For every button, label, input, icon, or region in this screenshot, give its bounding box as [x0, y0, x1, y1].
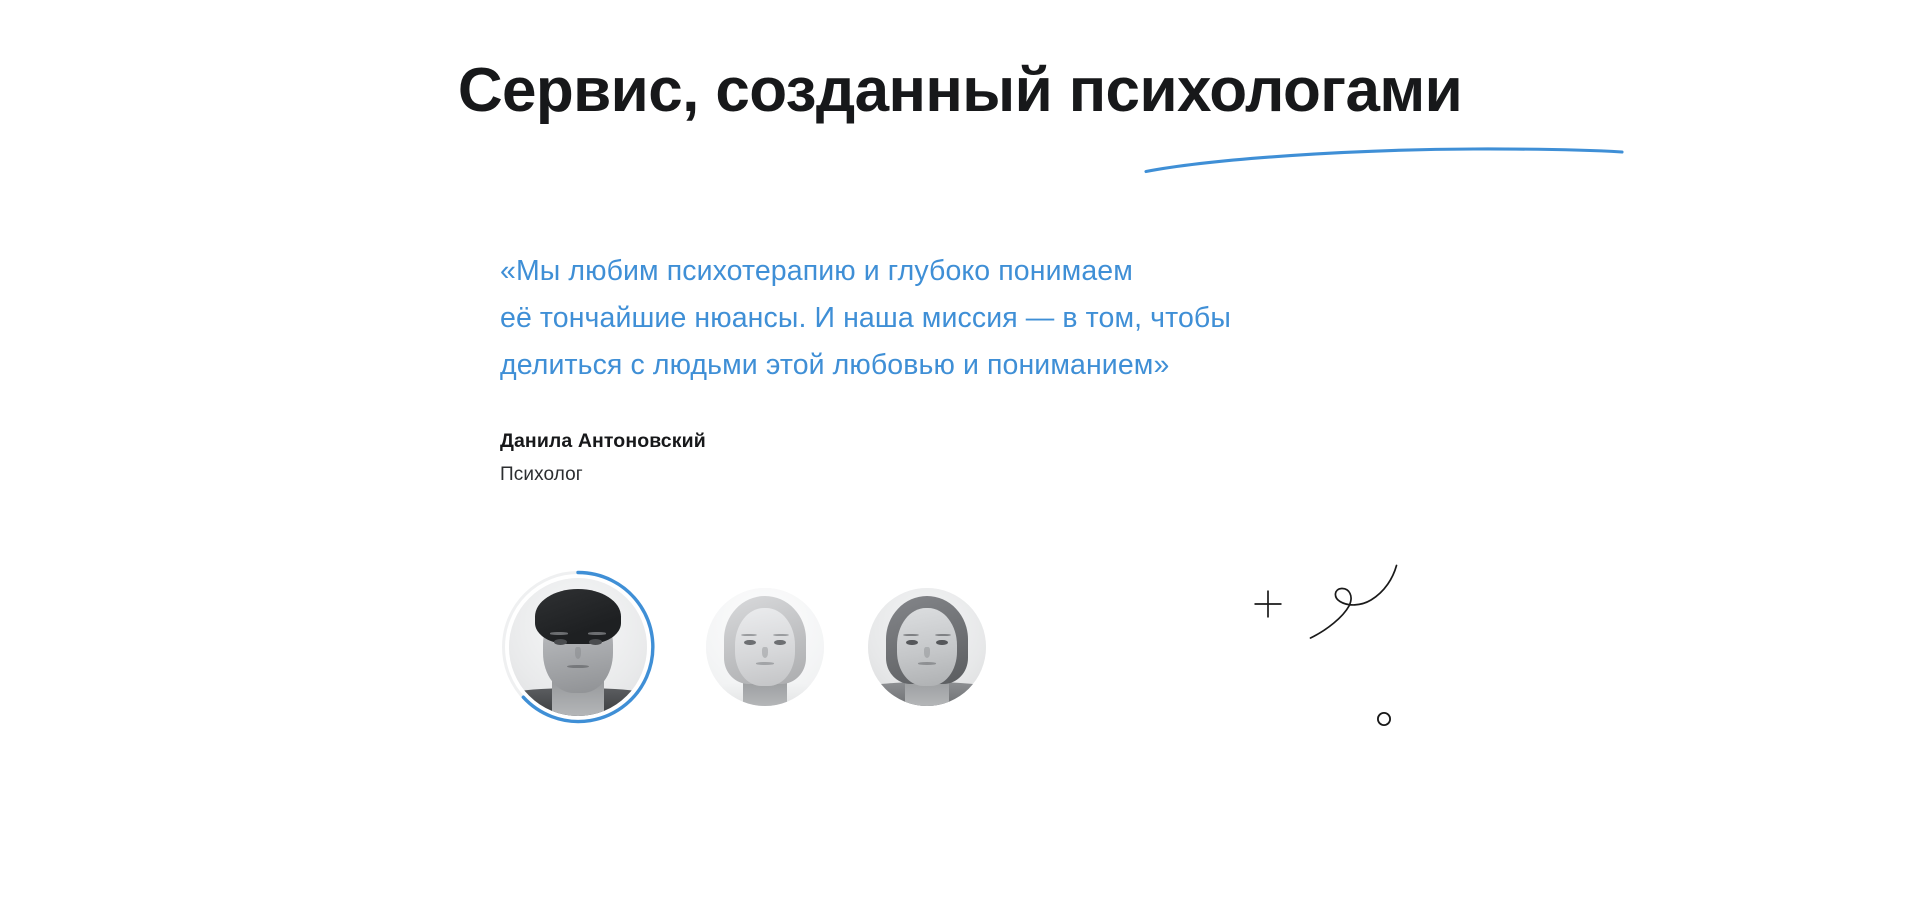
page-title-text: Сервис, созданный психологами [458, 56, 1462, 125]
small-circle-outline-icon [1376, 711, 1392, 727]
avatar-option-2[interactable] [706, 588, 824, 706]
avatar-option-3[interactable] [868, 588, 986, 706]
avatar [706, 588, 824, 706]
quote-line: делиться с людьми этой любовью и пониман… [500, 342, 1460, 389]
portrait-nose [762, 647, 768, 658]
quote-line: «Мы любим психотерапию и глубоко понимае… [500, 248, 1460, 295]
page-title: Сервис, созданный психологами [458, 58, 1462, 125]
quote-block: «Мы любим психотерапию и глубоко понимае… [500, 248, 1460, 487]
psychologists-section: Сервис, созданный психологами «Мы любим … [0, 0, 1920, 913]
plus-mark-icon [1252, 588, 1284, 620]
avatar-selector [500, 569, 986, 725]
quote-line: её тончайшие нюансы. И наша миссия — в т… [500, 295, 1460, 342]
portrait-eye [744, 640, 755, 645]
avatar-photo-female-light [706, 588, 824, 706]
portrait-eyebrow [588, 632, 606, 635]
portrait-eye [774, 640, 785, 645]
portrait-eye [906, 640, 917, 645]
heading-container: Сервис, созданный психологами [0, 58, 1920, 125]
portrait-eyebrow [550, 632, 568, 635]
author-role: Психолог [500, 462, 1460, 487]
portrait-eye [936, 640, 947, 645]
author-name: Данила Антоновский [500, 428, 1460, 454]
portrait-eye [589, 639, 602, 645]
portrait-eye [554, 639, 567, 645]
quote-text: «Мы любим психотерапию и глубоко понимае… [500, 248, 1460, 389]
avatar-photo-male [509, 578, 647, 716]
avatar [868, 588, 986, 706]
avatar-photo-female-dark [868, 588, 986, 706]
avatar-option-danila-antonovsky[interactable] [500, 569, 656, 725]
curl-squiggle-icon [1309, 564, 1407, 640]
swoosh-underline-icon [1144, 124, 1624, 158]
portrait-nose [924, 647, 930, 658]
portrait-hair [535, 589, 621, 644]
avatar [509, 578, 647, 716]
